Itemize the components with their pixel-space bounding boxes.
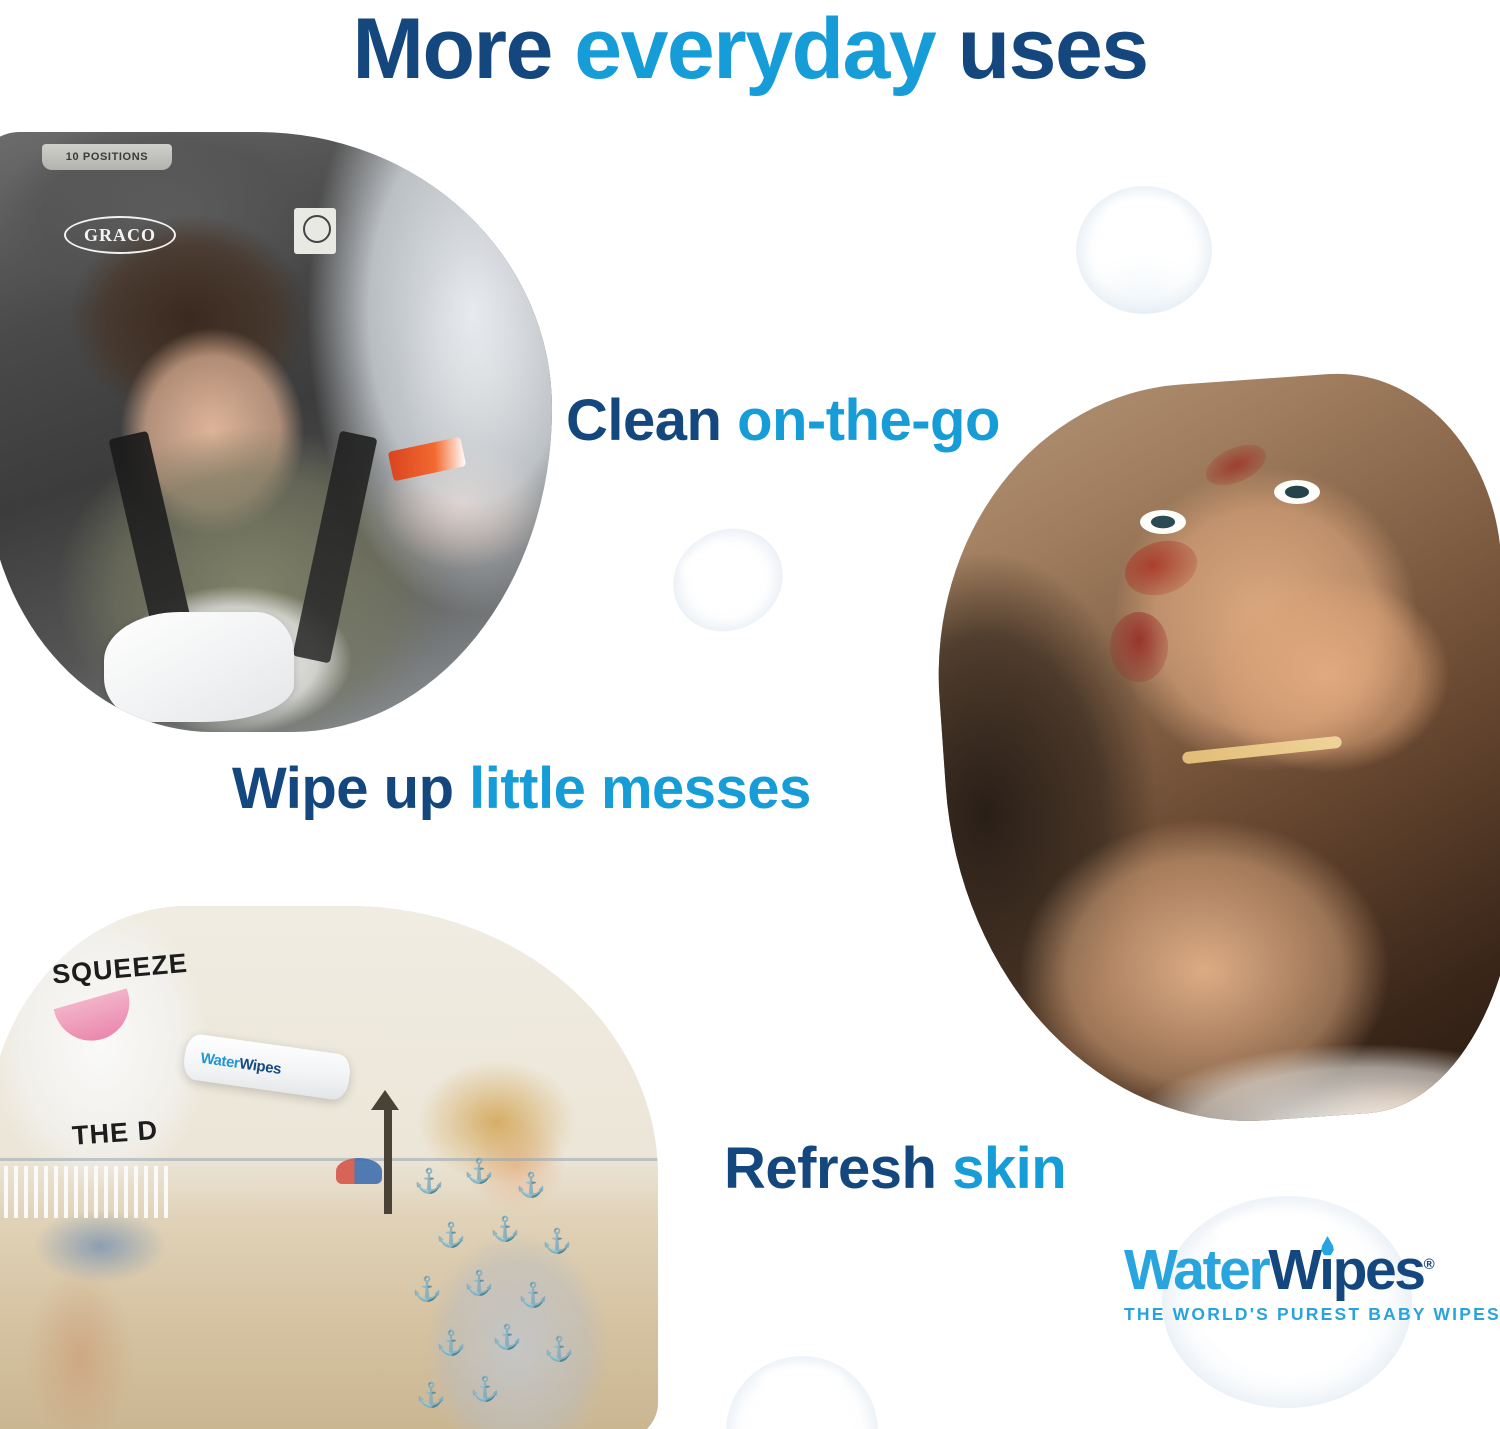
photo-beach-image: SQUEEZE THE D WaterWipes ⚓ ⚓ ⚓ ⚓ ⚓ ⚓ ⚓ ⚓… — [0, 906, 658, 1429]
bubble-highlight — [1104, 198, 1184, 232]
bubble-bottom — [726, 1356, 878, 1429]
photo-messy-eater-image — [924, 363, 1500, 1141]
bubble-highlight — [676, 536, 738, 585]
caption-2-cyan: little messes — [469, 756, 811, 821]
pack-brand-wipes: Wipes — [238, 1055, 282, 1078]
headline-segment-navy-1: More — [352, 1, 574, 97]
waterwipes-logo: WaterWipes® THE WORLD'S PUREST BABY WIPE… — [1124, 1242, 1492, 1348]
page-title: More everyday uses — [0, 4, 1500, 94]
headline-segment-navy-2: uses — [935, 1, 1147, 97]
baby-eye-right — [1274, 480, 1320, 504]
carseat-warning-sticker — [294, 208, 336, 254]
tee-fringe-trim — [0, 1166, 170, 1218]
beach-groyne-post — [384, 1106, 392, 1214]
beach-windbreak — [336, 1158, 382, 1184]
carseat-brand-label: GRACO — [64, 216, 176, 254]
caption-wipe-up-little-messes: Wipe up little messes — [232, 760, 811, 818]
romper-anchor-pattern: ⚓ ⚓ ⚓ ⚓ ⚓ ⚓ ⚓ ⚓ ⚓ ⚓ ⚓ ⚓ ⚓ ⚓ — [406, 1156, 596, 1429]
carseat-positions-label: 10 POSITIONS — [42, 144, 172, 170]
bubble-top — [1076, 186, 1212, 314]
wordmark-wipes: Wipes — [1268, 1238, 1423, 1302]
photo-carseat: 10 POSITIONS GRACO — [0, 132, 552, 732]
caption-1-cyan: on-the-go — [737, 388, 1000, 453]
bubble-mid — [655, 510, 801, 651]
spaghetti-strand — [1182, 736, 1342, 765]
promo-image: More everyday uses 10 POSITIONS GRACO SQ… — [0, 0, 1500, 1429]
caption-2-navy: Wipe up — [232, 756, 469, 821]
tee-text-line-1: SQUEEZE — [51, 948, 183, 990]
waterwipes-pack-label: WaterWipes — [199, 1049, 282, 1077]
caption-1-navy: Clean — [566, 388, 737, 453]
waterwipes-tagline: THE WORLD'S PUREST BABY WIPES — [1124, 1304, 1492, 1325]
sauce-smear-forehead — [1200, 436, 1272, 493]
sauce-smear-cheek — [1118, 532, 1204, 604]
bubble-highlight — [760, 1366, 844, 1396]
caption-3-cyan: skin — [952, 1136, 1066, 1201]
photo-messy-eater — [919, 363, 1500, 1141]
waterwipes-pack: WaterWipes — [182, 1033, 353, 1102]
wordmark-water: Water — [1124, 1238, 1268, 1302]
tee-text-line-2: THE D — [71, 1111, 213, 1152]
pack-brand-water: Water — [199, 1049, 240, 1071]
caption-refresh-skin: Refresh skin — [724, 1140, 1066, 1198]
waterwipes-wordmark: WaterWipes® — [1124, 1242, 1492, 1299]
photo-beach: SQUEEZE THE D WaterWipes ⚓ ⚓ ⚓ ⚓ ⚓ ⚓ ⚓ ⚓… — [0, 906, 658, 1429]
baby-wipe — [104, 612, 294, 722]
caption-clean-on-the-go: Clean on-the-go — [566, 392, 1000, 450]
caption-3-navy: Refresh — [724, 1136, 952, 1201]
baby-eye-left — [1140, 510, 1186, 534]
headline-segment-cyan: everyday — [574, 1, 935, 97]
tee-watermelon-motif — [54, 988, 139, 1049]
sauce-smear-jaw — [1110, 612, 1168, 682]
registered-trademark-icon: ® — [1424, 1256, 1435, 1273]
